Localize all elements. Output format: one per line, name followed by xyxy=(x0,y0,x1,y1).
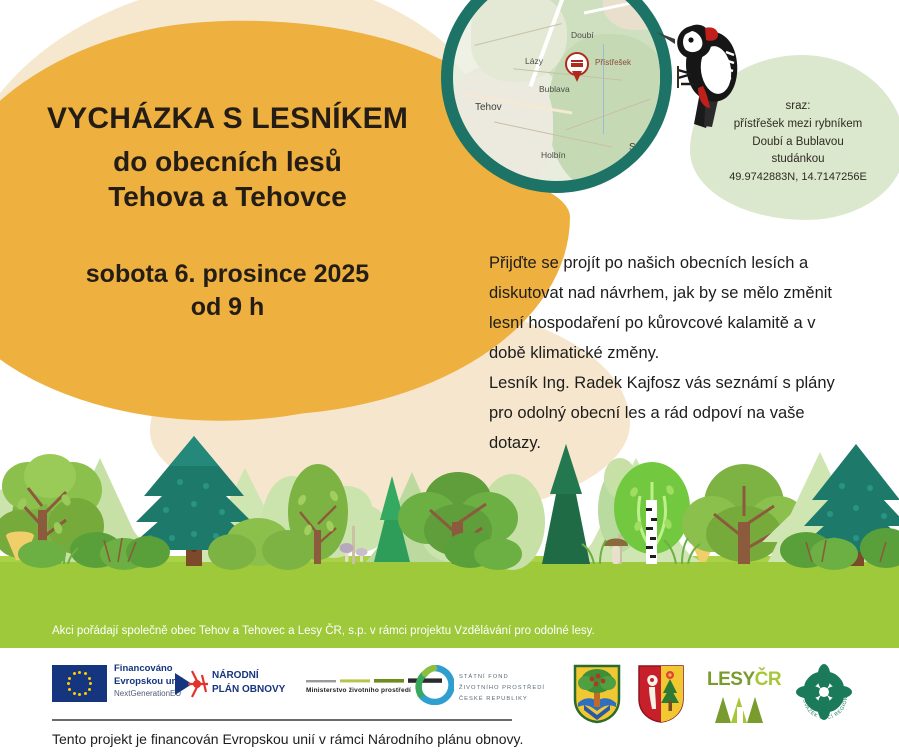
lesy-cr-logo-text: LESYČR xyxy=(707,669,781,691)
headline-block: VYCHÁZKA S LESNÍKEM do obecních lesů Teh… xyxy=(0,104,455,323)
meeting-point-line-3: studánkou xyxy=(700,151,896,169)
eu-star-icon xyxy=(68,677,71,680)
ministry-environment-label: Ministerstvo životního prostředí xyxy=(306,687,411,694)
map-pin-shelter-icon xyxy=(571,60,583,67)
description-line-3: lesní hospodaření po kůrovcové kalamitě … xyxy=(489,308,887,338)
headline-line-3: Tehova a Tehovce xyxy=(0,179,455,214)
description-line-2: diskutovat nad návrhem, jak by se mělo z… xyxy=(489,278,887,308)
map-label-bublava: Bublava xyxy=(539,84,570,94)
description-paragraph: Přijďte se projít po našich obecních les… xyxy=(489,248,887,458)
meeting-point-label: sraz: xyxy=(700,98,896,116)
eu-star-icon xyxy=(89,682,92,685)
logo-row: Financováno Evropskou unií NextGeneratio… xyxy=(0,655,899,754)
npo-logo-text: NÁRODNÍ PLÁN OBNOVY xyxy=(212,669,285,696)
sfzp-line-1: STÁTNÍ FOND xyxy=(459,672,545,683)
eu-star-icon xyxy=(73,672,76,675)
headline-line-1: VYCHÁZKA S LESNÍKEM xyxy=(0,104,455,134)
sfzp-logo-text: STÁTNÍ FOND ŽIVOTNÍHO PROSTŘEDÍ ČESKÉ RE… xyxy=(459,672,545,705)
description-line-5: Lesník Ing. Radek Kajfosz vás seznámí s … xyxy=(489,368,887,398)
tehovec-coat-of-arms-icon xyxy=(636,663,686,725)
lesy-cr-logo-cr: ČR xyxy=(755,669,781,690)
map-label-svojetice: Svojetice xyxy=(629,142,660,153)
csop-logo-icon: SVAZEK OBCÍ REGIONU PÍSECKO xyxy=(793,663,855,725)
poster-root: VYCHÁZKA S LESNÍKEM do obecních lesů Teh… xyxy=(0,0,899,754)
eu-star-icon xyxy=(68,688,71,691)
eu-star-icon xyxy=(84,692,87,695)
npo-line-1: NÁRODNÍ xyxy=(212,669,285,683)
lesy-cr-trees-icon xyxy=(713,695,767,725)
description-line-6: pro odolný obecní les a rád odpoví na va… xyxy=(489,398,887,428)
logo-divider xyxy=(52,719,512,721)
financing-note: Tento projekt je financován Evropskou un… xyxy=(52,731,523,747)
organizer-text: Akci pořádají společně obec Tehov a Teho… xyxy=(52,625,872,637)
eu-star-icon xyxy=(88,677,91,680)
meeting-point-line-1: přístřešek mezi rybníkem xyxy=(700,116,896,134)
forest-illustration xyxy=(0,430,899,620)
map-pin-marker[interactable] xyxy=(565,52,589,76)
headline-line-2: do obecních lesů xyxy=(0,144,455,179)
eu-star-icon xyxy=(73,692,76,695)
map-canvas[interactable]: TehovTehovecSvojeticeLázyDoubíBublavaHol… xyxy=(453,0,660,181)
meeting-point-coordinates: 49.9742883N, 14.7147256E xyxy=(700,169,896,186)
map-label-doubí: Doubí xyxy=(571,30,594,40)
eu-star-icon xyxy=(78,693,81,696)
sfzp-line-2: ŽIVOTNÍHO PROSTŘEDÍ xyxy=(459,683,545,694)
map-pin-label: Přístřešek xyxy=(595,58,631,67)
eu-star-icon xyxy=(88,688,91,691)
description-line-1: Přijďte se projít po našich obecních les… xyxy=(489,248,887,278)
npo-line-2: PLÁN OBNOVY xyxy=(212,683,285,697)
eu-star-icon xyxy=(78,671,81,674)
eu-star-icon xyxy=(84,672,87,675)
map-circle[interactable]: TehovTehovecSvojeticeLázyDoubíBublavaHol… xyxy=(441,0,672,193)
meeting-point-block: sraz: přístřešek mezi rybníkem Doubí a B… xyxy=(700,98,896,186)
map-label-holbín: Holbín xyxy=(541,150,566,160)
eu-star-icon xyxy=(67,682,70,685)
map-label-lázy: Lázy xyxy=(525,56,543,66)
event-time: od 9 h xyxy=(0,291,455,324)
map-label-tehov: Tehov xyxy=(475,102,502,113)
event-date: sobota 6. prosince 2025 xyxy=(0,258,455,291)
eu-flag-icon xyxy=(52,665,107,702)
sfzp-line-3: ČESKÉ REPUBLIKY xyxy=(459,694,545,705)
sfzp-logo-icon xyxy=(414,665,454,705)
description-line-4: době klimatické změny. xyxy=(489,338,887,368)
meeting-point-line-2: Doubí a Bublavou xyxy=(700,134,896,152)
npo-logo-icon xyxy=(172,667,210,701)
tehov-coat-of-arms-icon xyxy=(572,663,622,725)
lesy-cr-logo-lesy: LESY xyxy=(707,669,755,690)
